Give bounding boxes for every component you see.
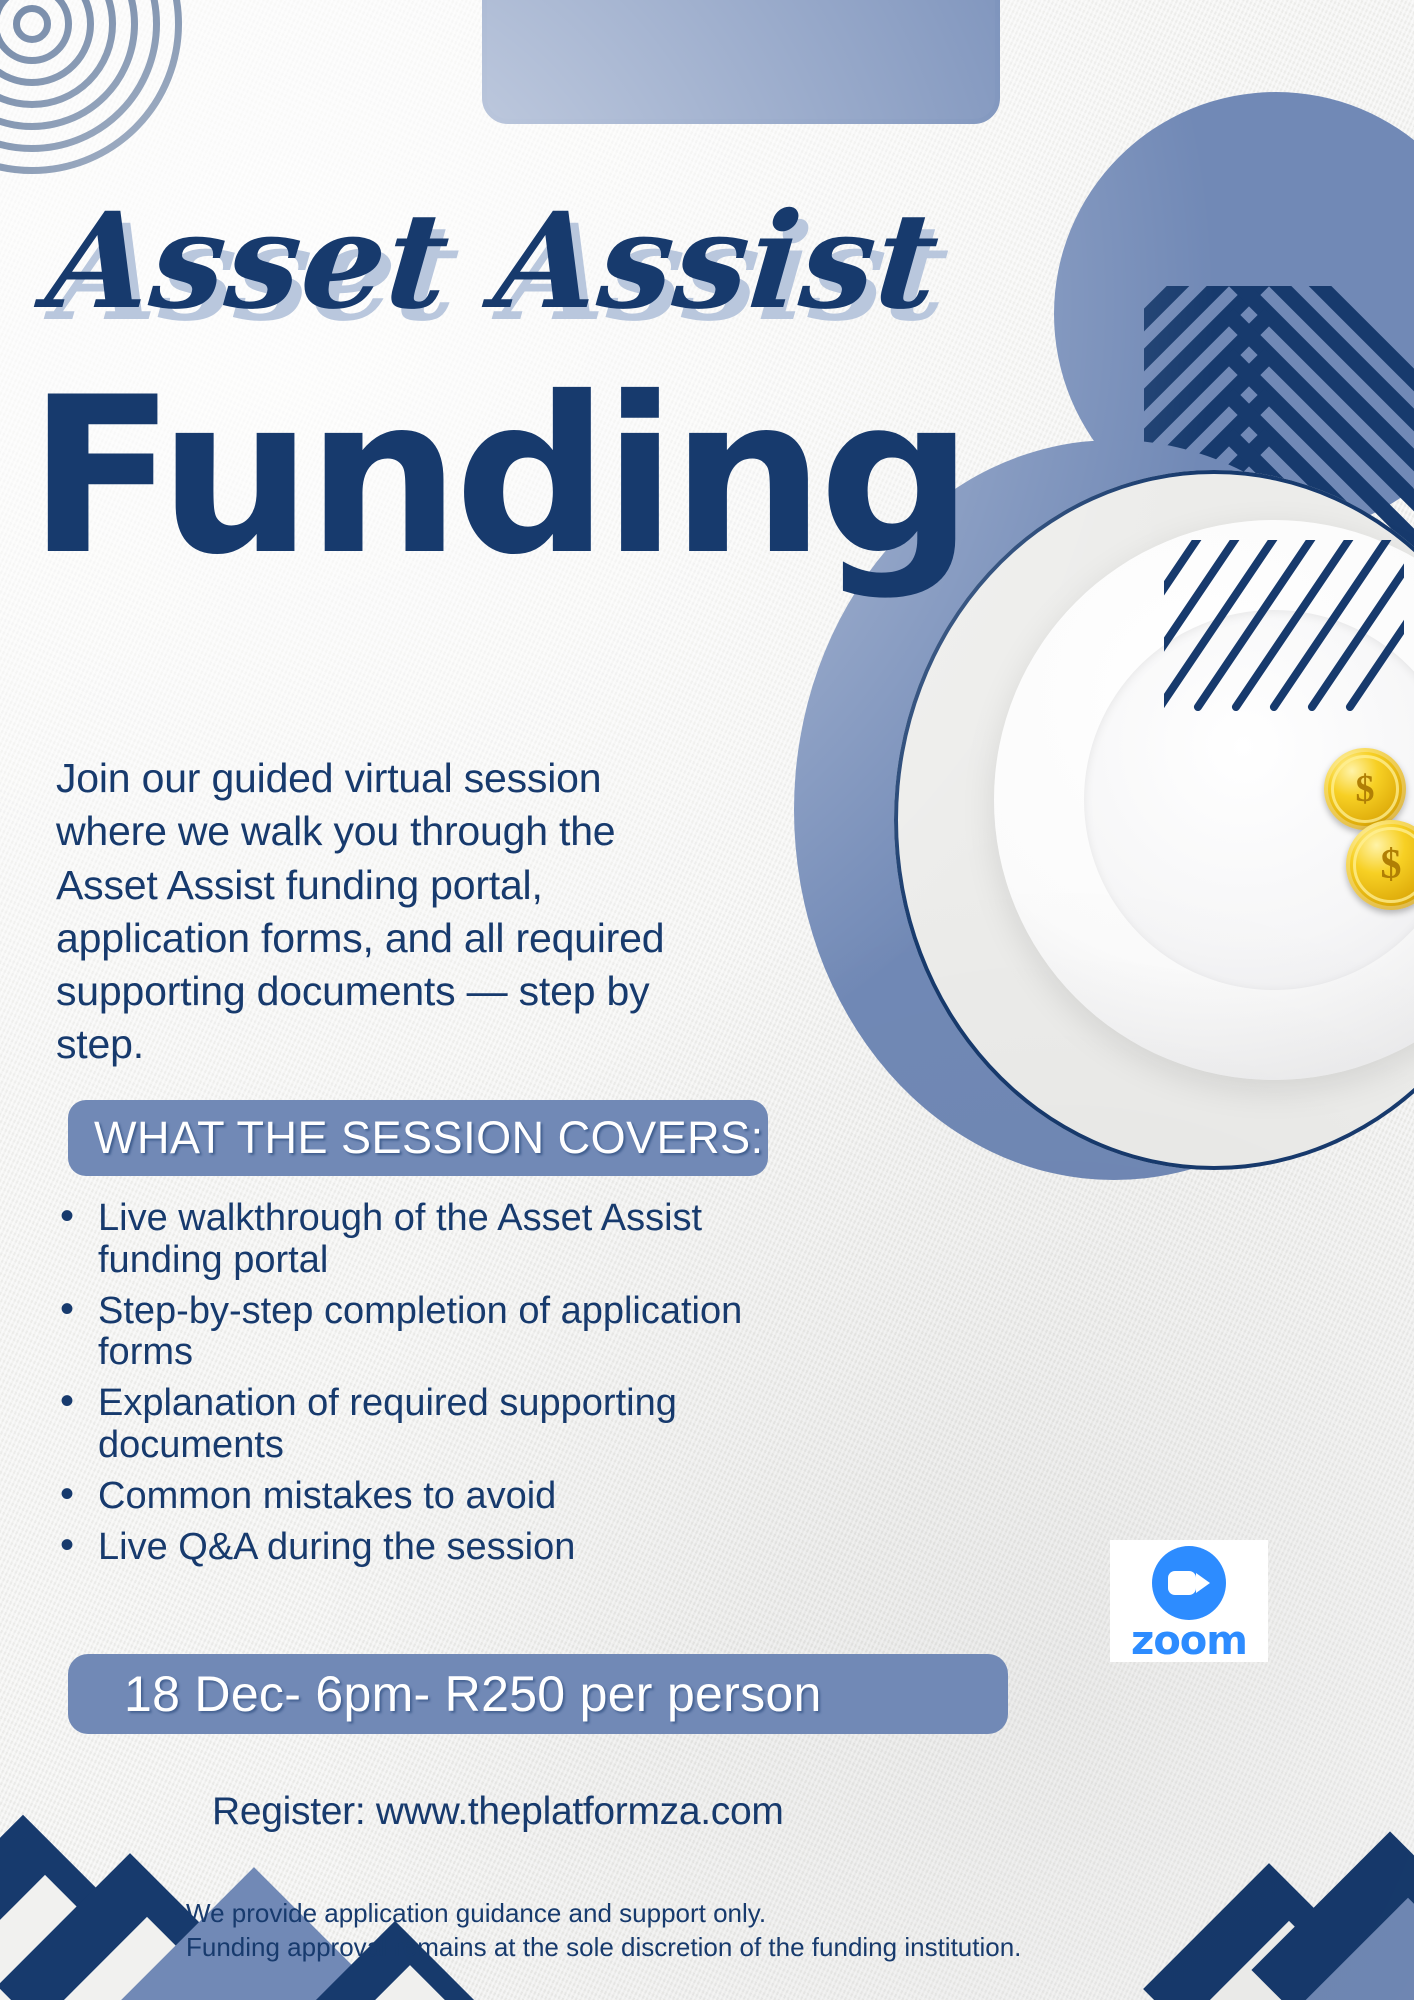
- poster-canvas: $ $ $ Asset Assist Funding Join our gu: [0, 0, 1414, 2000]
- list-item: Explanation of required supporting docum…: [46, 1383, 746, 1467]
- poster-content: Asset Assist Funding Join our guided vir…: [0, 0, 1414, 2000]
- disclaimer: We provide application guidance and supp…: [186, 1896, 1286, 1965]
- camera-body: [1168, 1571, 1196, 1595]
- session-covers-banner: WHAT THE SESSION COVERS:: [68, 1100, 768, 1176]
- session-covers-list: Live walkthrough of the Asset Assist fun…: [46, 1198, 746, 1577]
- camera-glyph: [1168, 1571, 1210, 1595]
- disclaimer-line-1: We provide application guidance and supp…: [186, 1896, 1286, 1930]
- zoom-wordmark: zoom: [1131, 1621, 1247, 1661]
- zoom-logo: zoom: [1110, 1540, 1268, 1662]
- coin-symbol: $: [1356, 767, 1375, 811]
- coin-symbol: $: [1381, 841, 1402, 889]
- session-covers-heading: WHAT THE SESSION COVERS:: [94, 1112, 764, 1164]
- page-title: Funding: [28, 378, 967, 577]
- disclaimer-line-2: Funding approval remains at the sole dis…: [186, 1930, 1286, 1964]
- list-item: Common mistakes to avoid: [46, 1476, 746, 1518]
- register-line: Register: www.theplatformza.com: [212, 1790, 784, 1834]
- list-item: Step-by-step completion of application f…: [46, 1291, 746, 1375]
- list-item: Live walkthrough of the Asset Assist fun…: [46, 1198, 746, 1282]
- camera-lens: [1196, 1573, 1210, 1593]
- intro-paragraph: Join our guided virtual session where we…: [56, 752, 716, 1072]
- list-item: Live Q&A during the session: [46, 1527, 746, 1569]
- script-title: Asset Assist: [42, 196, 944, 328]
- price-banner-text: 18 Dec- 6pm- R250 per person: [124, 1665, 822, 1723]
- price-banner: 18 Dec- 6pm- R250 per person: [68, 1654, 1008, 1734]
- video-camera-icon: [1152, 1546, 1226, 1620]
